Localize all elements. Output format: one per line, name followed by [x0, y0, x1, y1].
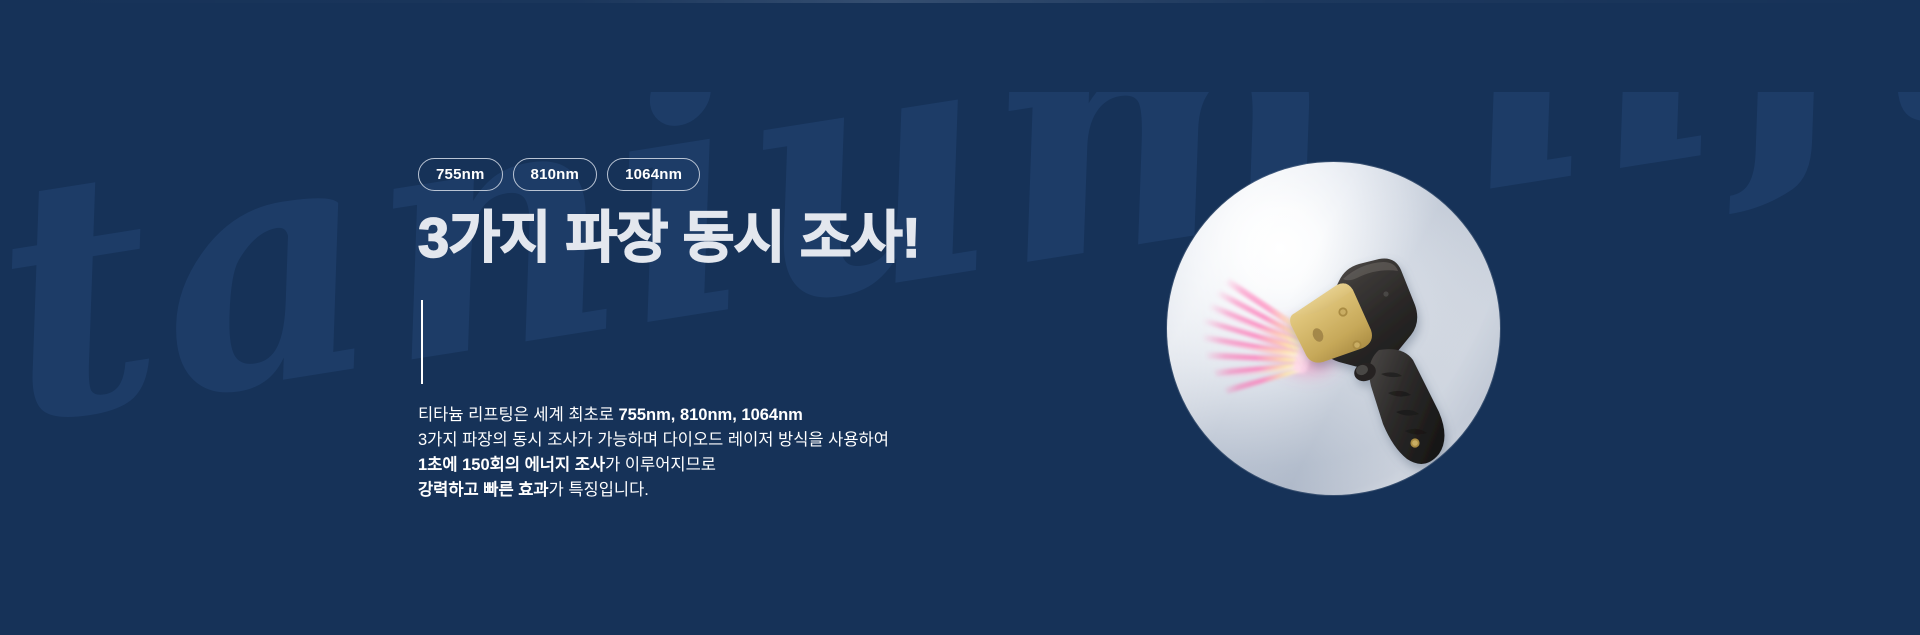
handpiece-assembly — [1290, 258, 1444, 463]
body-line-2: 3가지 파장의 동시 조사가 가능하며 다이오드 레이저 방식을 사용하여 — [418, 428, 889, 453]
body-copy: 티타늄 리프팅은 세계 최초로 755nm, 810nm, 1064nm 3가지… — [418, 403, 889, 503]
vertical-divider — [421, 300, 423, 384]
promo-banner: itanium lifting 755nm 810nm 1064nm 3가지 파… — [0, 0, 1920, 635]
body-line-1-plain: 티타늄 리프팅은 세계 최초로 — [418, 406, 619, 424]
body-line-3: 1초에 150회의 에너지 조사가 이루어지므로 — [418, 453, 889, 478]
body-line-1-bold: 755nm, 810nm, 1064nm — [619, 406, 803, 424]
wavelength-badge-row: 755nm 810nm 1064nm — [418, 158, 700, 191]
product-medallion — [1167, 162, 1500, 495]
laser-handpiece-illustration — [1167, 162, 1500, 495]
body-line-1: 티타늄 리프팅은 세계 최초로 755nm, 810nm, 1064nm — [418, 403, 889, 428]
body-line-4: 강력하고 빠른 효과가 특징입니다. — [418, 478, 889, 503]
body-line-3-bold: 1초에 150회의 에너지 조사 — [418, 456, 605, 474]
content-column: 755nm 810nm 1064nm 3가지 파장 동시 조사! 티타늄 리프팅… — [418, 0, 1178, 635]
body-line-4-bold: 강력하고 빠른 효과 — [418, 481, 549, 499]
badge-755nm[interactable]: 755nm — [418, 158, 503, 191]
body-line-3-plain: 가 이루어지므로 — [605, 456, 716, 474]
headline: 3가지 파장 동시 조사! — [418, 206, 920, 271]
handpiece-grip — [1369, 349, 1444, 464]
badge-810nm[interactable]: 810nm — [513, 158, 598, 191]
body-line-4-plain: 가 특징입니다. — [549, 481, 649, 499]
badge-1064nm[interactable]: 1064nm — [607, 158, 700, 191]
